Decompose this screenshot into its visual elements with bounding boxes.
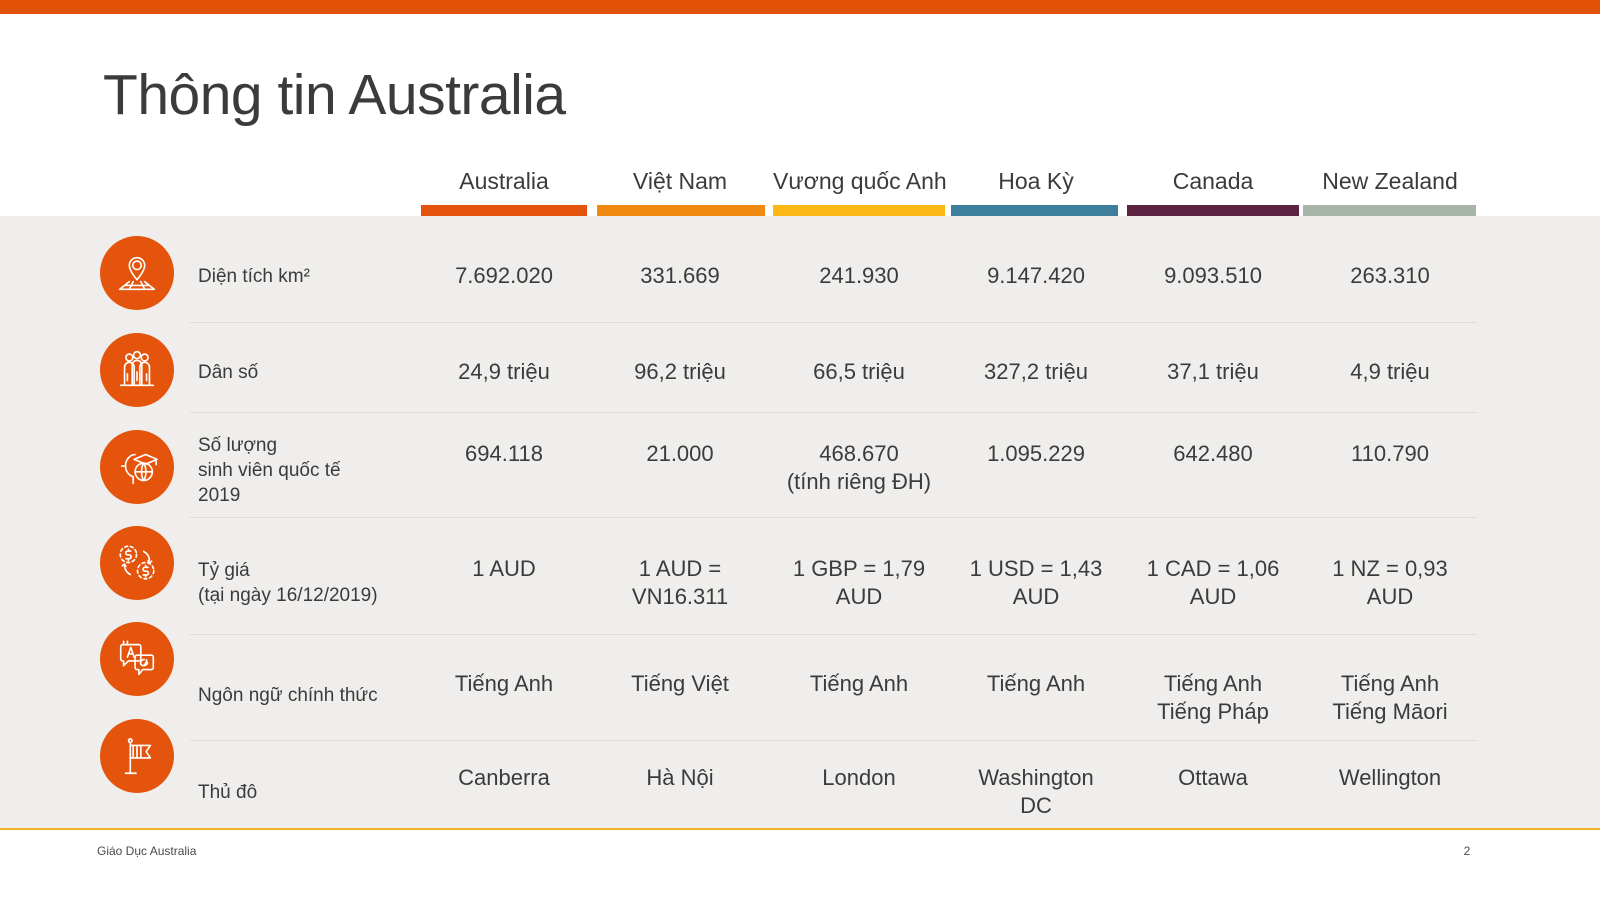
population-people-icon [114,347,160,393]
row-icon-badge-6 [100,719,174,793]
table-cell-r3-c5: 642.480 [1127,440,1299,468]
language-translate-icon [114,636,160,682]
table-cell-r5-c1: Tiếng Anh [421,670,587,698]
currency-exchange-icon [114,540,160,586]
column-header-6: New Zealand [1303,168,1477,195]
table-cell-r5-c3: Tiếng Anh [773,670,945,698]
table-cell-r2-c3: 66,5 triệu [773,358,945,386]
column-header-5: Canada [1127,168,1299,195]
row-label-6: Thủ đô [198,780,257,805]
table-cell-r4-c6: 1 NZ = 0,93 AUD [1303,555,1477,611]
row-label-1: Diện tích km² [198,264,310,289]
table-cell-r4-c2: 1 AUD = VN16.311 [597,555,763,611]
table-cell-r1-c6: 263.310 [1303,262,1477,290]
graduate-student-icon [114,444,160,490]
column-accent-bar-1 [421,205,587,216]
column-accent-bar-2 [597,205,765,216]
table-cell-r6-c6: Wellington [1303,764,1477,792]
table-cell-r4-c3: 1 GBP = 1,79 AUD [773,555,945,611]
table-cell-r1-c1: 7.692.020 [421,262,587,290]
footer-label: Giáo Dục Australia [97,844,196,858]
table-cell-r3-c1: 694.118 [421,440,587,468]
table-cell-r6-c2: Hà Nội [597,764,763,792]
table-cell-r6-c4: Washington DC [951,764,1121,820]
row-icon-badge-3 [100,430,174,504]
table-cell-r2-c2: 96,2 triệu [597,358,763,386]
row-icon-badge-1 [100,236,174,310]
table-cell-r1-c3: 241.930 [773,262,945,290]
column-accent-bar-5 [1127,205,1299,216]
map-pin-icon [114,250,160,296]
table-cell-r2-c1: 24,9 triệu [421,358,587,386]
page-number: 2 [1455,844,1479,858]
row-divider-5 [190,740,1477,741]
table-cell-r6-c3: London [773,764,945,792]
table-cell-r5-c5: Tiếng Anh Tiếng Pháp [1127,670,1299,726]
flag-icon [114,733,160,779]
table-cell-r2-c6: 4,9 triệu [1303,358,1477,386]
table-cell-r5-c4: Tiếng Anh [951,670,1121,698]
table-cell-r6-c1: Canberra [421,764,587,792]
column-header-1: Australia [421,168,587,195]
table-cell-r5-c2: Tiếng Việt [597,670,763,698]
row-label-5: Ngôn ngữ chính thức [198,683,378,708]
column-accent-bar-4 [951,205,1118,216]
row-icon-badge-2 [100,333,174,407]
column-accent-bar-3 [773,205,945,216]
table-cell-r4-c4: 1 USD = 1,43 AUD [951,555,1121,611]
row-divider-4 [190,634,1477,635]
content-panel [0,216,1600,828]
row-label-4: Tỷ giá (tại ngày 16/12/2019) [198,558,378,608]
table-cell-r3-c4: 1.095.229 [951,440,1121,468]
row-label-2: Dân số [198,360,258,385]
page-title: Thông tin Australia [103,62,566,128]
row-icon-badge-4 [100,526,174,600]
row-icon-badge-5 [100,622,174,696]
row-label-3: Số lượng sinh viên quốc tế 2019 [198,433,341,508]
top-accent-bar [0,0,1600,14]
slide-australia-info: Thông tin Australia AustraliaViệt NamVươ… [0,0,1600,900]
table-cell-r4-c1: 1 AUD [421,555,587,583]
table-cell-r3-c3: 468.670 (tính riêng ĐH) [773,440,945,496]
table-cell-r1-c2: 331.669 [597,262,763,290]
table-cell-r2-c4: 327,2 triệu [951,358,1121,386]
table-cell-r4-c5: 1 CAD = 1,06 AUD [1127,555,1299,611]
column-header-3: Vương quốc Anh [773,168,945,195]
table-cell-r6-c5: Ottawa [1127,764,1299,792]
column-header-2: Việt Nam [597,168,763,195]
table-cell-r1-c5: 9.093.510 [1127,262,1299,290]
footer-divider [0,828,1600,830]
row-divider-3 [190,517,1477,518]
table-cell-r2-c5: 37,1 triệu [1127,358,1299,386]
table-cell-r1-c4: 9.147.420 [951,262,1121,290]
table-cell-r5-c6: Tiếng Anh Tiếng Māori [1303,670,1477,726]
column-accent-bar-6 [1303,205,1476,216]
column-header-4: Hoa Kỳ [951,168,1121,195]
column-accent-bars [0,205,1600,216]
row-divider-1 [190,322,1477,323]
column-header-row: AustraliaViệt NamVương quốc AnhHoa KỳCan… [0,168,1600,202]
row-divider-2 [190,412,1477,413]
table-cell-r3-c6: 110.790 [1303,440,1477,468]
table-cell-r3-c2: 21.000 [597,440,763,468]
